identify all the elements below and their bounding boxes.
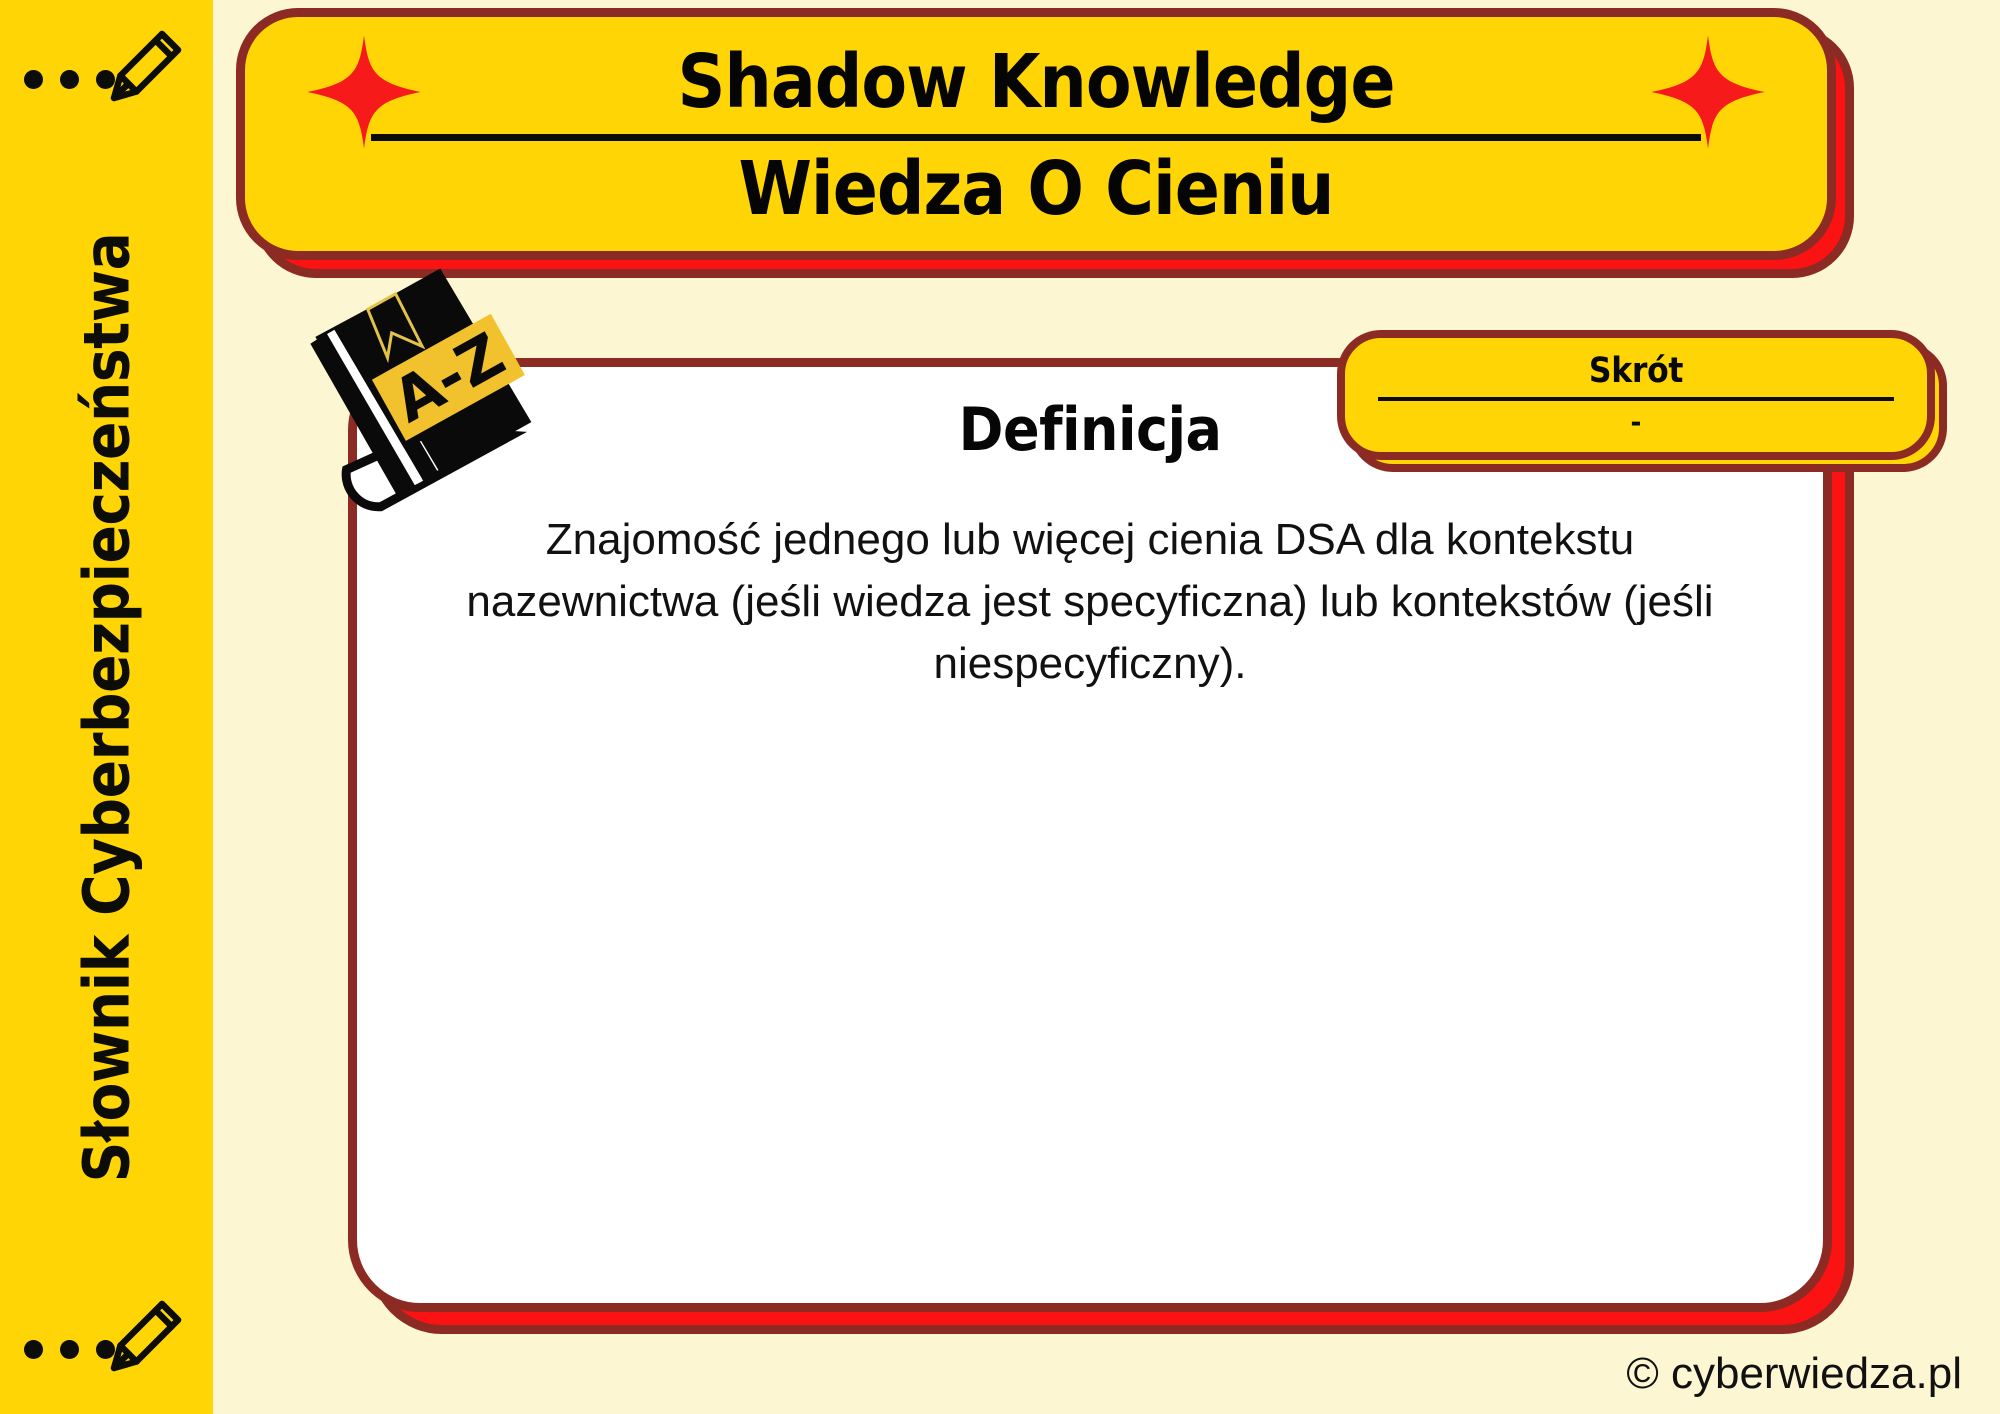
- abbreviation-label: Skrót: [1589, 352, 1683, 390]
- abbreviation-value: -: [1631, 404, 1642, 438]
- card-page: Słownik Cyberbezpieczeństwa: [0, 0, 2000, 1414]
- header-banner: Shadow Knowledge Wiedza O Cieniu: [236, 8, 1858, 280]
- header-banner-card: Shadow Knowledge Wiedza O Cieniu: [236, 8, 1836, 260]
- pencil-icon: [106, 1296, 186, 1376]
- definition-text: Znajomość jednego lub więcej cienia DSA …: [440, 509, 1740, 695]
- sidebar-vertical-title-text: Słownik Cyberbezpieczeństwa: [70, 232, 143, 1182]
- sidebar-bottom-decoration: [14, 1288, 194, 1398]
- definition-panel: Definicja Znajomość jednego lub więcej c…: [348, 358, 1858, 1338]
- header-divider: [371, 134, 1701, 141]
- header-title-en: Shadow Knowledge: [677, 40, 1394, 124]
- abbreviation-badge-card: Skrót -: [1337, 330, 1935, 460]
- sidebar-vertical-title: Słownik Cyberbezpieczeństwa: [0, 0, 213, 1414]
- definition-panel-card: Definicja Znajomość jednego lub więcej c…: [348, 358, 1832, 1312]
- abbreviation-badge: Skrót -: [1337, 330, 1957, 490]
- ellipsis-dots-icon: [24, 1340, 115, 1359]
- sidebar: Słownik Cyberbezpieczeństwa: [0, 0, 213, 1414]
- sparkle-icon: [1649, 33, 1767, 151]
- footer-copyright: © cyberwiedza.pl: [1626, 1348, 1962, 1400]
- header-title-block: Shadow Knowledge Wiedza O Cieniu: [245, 17, 1827, 251]
- header-title-pl: Wiedza O Cieniu: [738, 147, 1333, 231]
- dictionary-book-icon: A-Z: [270, 244, 559, 550]
- abbreviation-divider: [1378, 397, 1894, 401]
